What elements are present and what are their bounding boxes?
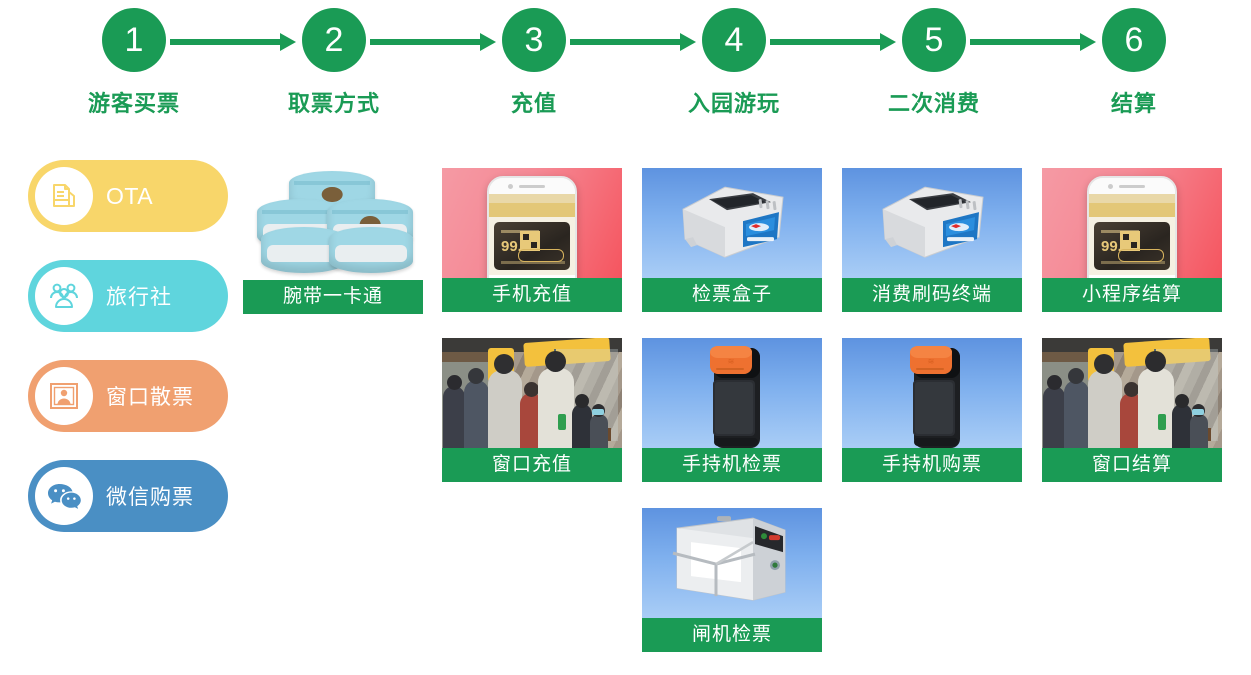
step-header: 1 游客买票 2 取票方式 3 充值 4 入园游玩 5 二次消费 6 结算 — [0, 0, 1251, 140]
phone-mockup: 99.00 — [487, 176, 577, 278]
card-window-settle-caption: 窗口结算 — [1042, 448, 1222, 482]
step-4[interactable]: 4 入园游玩 — [669, 8, 799, 118]
card-wristband-image — [243, 165, 423, 280]
step-1-label: 游客买票 — [69, 86, 199, 118]
card-scan-box-image — [642, 168, 822, 278]
counter-photo — [442, 338, 622, 448]
card-handheld-buy-caption: 手持机购票 — [842, 448, 1022, 482]
qr-code-icon — [520, 231, 540, 251]
card-miniapp-settle-caption: 小程序结算 — [1042, 278, 1222, 312]
channel-badge-window-ticket — [35, 367, 93, 425]
card-gate-check-image — [642, 508, 822, 618]
card-window-settle-image — [1042, 338, 1222, 448]
turnstile-gate-device — [657, 508, 807, 606]
channel-badge-ota — [35, 167, 93, 225]
wristband-roll-frontright — [329, 227, 413, 273]
channel-label-travel-agency: 旅行社 — [106, 281, 172, 311]
step-3-label: 充值 — [469, 86, 599, 118]
card-handheld-check[interactable]: ≋ 手持机检票 — [642, 338, 822, 482]
flow-diagram-canvas: 1 游客买票 2 取票方式 3 充值 4 入园游玩 5 二次消费 6 结算 — [0, 0, 1251, 675]
handheld-pos-device: ≋ — [886, 344, 978, 448]
step-1-number: 1 — [102, 8, 166, 72]
step-1[interactable]: 1 游客买票 — [69, 8, 199, 118]
card-window-recharge-caption: 窗口充值 — [442, 448, 622, 482]
phone-mockup: 99.00 — [1087, 176, 1177, 278]
card-gate-check[interactable]: 闸机检票 — [642, 508, 822, 652]
group-people-icon — [46, 279, 82, 313]
card-window-recharge-image — [442, 338, 622, 448]
card-handheld-check-image: ≋ — [642, 338, 822, 448]
channel-pill-ota[interactable]: OTA — [28, 160, 228, 232]
svg-text:≋: ≋ — [728, 357, 735, 366]
card-scan-box[interactable]: 检票盒子 — [642, 168, 822, 312]
step-6-label: 结算 — [1069, 86, 1199, 118]
step-5[interactable]: 5 二次消费 — [869, 8, 999, 118]
card-gate-check-caption: 闸机检票 — [642, 618, 822, 652]
scanner-box-device — [667, 175, 797, 267]
card-window-settle[interactable]: 窗口结算 — [1042, 338, 1222, 482]
channel-label-ota: OTA — [106, 183, 153, 210]
card-phone-recharge-image: 99.00 — [442, 168, 622, 278]
qr-code-icon — [1120, 231, 1140, 251]
card-phone-recharge[interactable]: 99.00 手机充值 — [442, 168, 622, 312]
svg-text:≋: ≋ — [928, 357, 935, 366]
step-4-number: 4 — [702, 8, 766, 72]
step-2-label: 取票方式 — [269, 86, 399, 118]
scanner-box-device — [867, 175, 997, 267]
wechat-icon — [46, 481, 82, 511]
card-handheld-check-caption: 手持机检票 — [642, 448, 822, 482]
step-4-label: 入园游玩 — [669, 86, 799, 118]
card-pos-terminal-image — [842, 168, 1022, 278]
card-wristband[interactable]: 腕带一卡通 — [243, 165, 423, 314]
step-2[interactable]: 2 取票方式 — [269, 8, 399, 118]
card-miniapp-settle[interactable]: 99.00 小程序结算 — [1042, 168, 1222, 312]
handheld-pos-device: ≋ — [686, 344, 778, 448]
channel-pill-wechat[interactable]: 微信购票 — [28, 460, 228, 532]
channel-pill-window-ticket[interactable]: 窗口散票 — [28, 360, 228, 432]
counter-photo — [1042, 338, 1222, 448]
step-3-number: 3 — [502, 8, 566, 72]
card-handheld-buy[interactable]: ≋ 手持机购票 — [842, 338, 1022, 482]
channel-badge-wechat — [35, 467, 93, 525]
card-window-recharge[interactable]: 窗口充值 — [442, 338, 622, 482]
id-photo-icon — [47, 380, 81, 412]
channel-label-wechat: 微信购票 — [106, 481, 194, 511]
channel-list: OTA 旅行社 — [28, 160, 238, 560]
card-wristband-caption: 腕带一卡通 — [243, 280, 423, 314]
step-6-number: 6 — [1102, 8, 1166, 72]
card-scan-box-caption: 检票盒子 — [642, 278, 822, 312]
document-building-icon — [47, 179, 81, 213]
step-2-number: 2 — [302, 8, 366, 72]
channel-badge-travel-agency — [35, 267, 93, 325]
step-5-label: 二次消费 — [869, 86, 999, 118]
channel-label-window-ticket: 窗口散票 — [106, 381, 194, 411]
channel-pill-travel-agency[interactable]: 旅行社 — [28, 260, 228, 332]
step-6[interactable]: 6 结算 — [1069, 8, 1199, 118]
card-phone-recharge-caption: 手机充值 — [442, 278, 622, 312]
card-pos-terminal[interactable]: 消费刷码终端 — [842, 168, 1022, 312]
step-5-number: 5 — [902, 8, 966, 72]
card-pos-terminal-caption: 消费刷码终端 — [842, 278, 1022, 312]
card-miniapp-settle-image: 99.00 — [1042, 168, 1222, 278]
step-3[interactable]: 3 充值 — [469, 8, 599, 118]
card-handheld-buy-image: ≋ — [842, 338, 1022, 448]
